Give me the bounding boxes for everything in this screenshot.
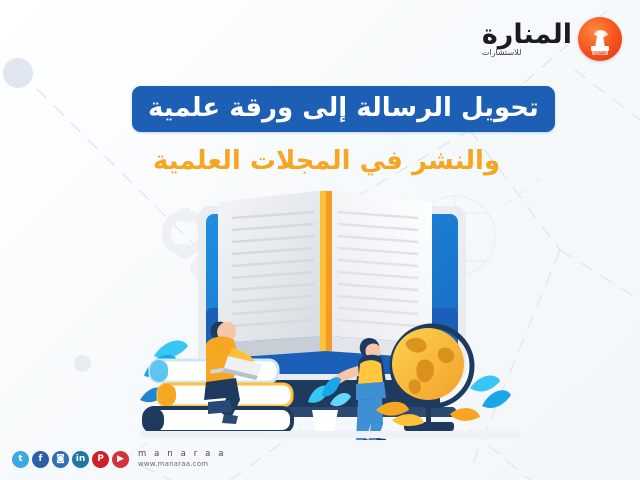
floor-line: [140, 431, 520, 438]
footer-bar: t f ◙ in P ▶ m a n a r a a www.manaraa.c…: [0, 438, 640, 480]
decor-circle-large: [3, 58, 33, 88]
linkedin-icon[interactable]: in: [72, 451, 89, 468]
decor-circle-small: [74, 355, 91, 372]
pinterest-icon[interactable]: P: [92, 451, 109, 468]
open-book: [218, 190, 432, 358]
lighthouse-icon: المنارة: [578, 17, 622, 61]
logo-mark-label: المنارة: [592, 50, 608, 55]
footer-brand-name: m a n a r a a: [138, 450, 226, 460]
main-illustration: [140, 188, 520, 440]
poster-canvas: المنارة المنارة للاستشارات تحويل الرسالة…: [0, 0, 640, 480]
youtube-icon[interactable]: ▶: [112, 451, 129, 468]
footer-brand-url: www.manaraa.com: [138, 460, 226, 468]
twitter-icon[interactable]: t: [12, 451, 29, 468]
instagram-icon[interactable]: ◙: [52, 451, 69, 468]
brand-tagline: للاستشارات: [482, 49, 522, 57]
brand-wordmark: المنارة للاستشارات: [482, 21, 572, 57]
footer-brand[interactable]: m a n a r a a www.manaraa.com: [138, 450, 226, 468]
facebook-icon[interactable]: f: [32, 451, 49, 468]
brand-name: المنارة: [482, 21, 572, 48]
brand-logo: المنارة المنارة للاستشارات: [482, 14, 622, 64]
headline-secondary: والنشر في المجلات العلمية: [143, 142, 510, 180]
headline-primary: تحويل الرسالة إلى ورقة علمية: [132, 86, 555, 132]
